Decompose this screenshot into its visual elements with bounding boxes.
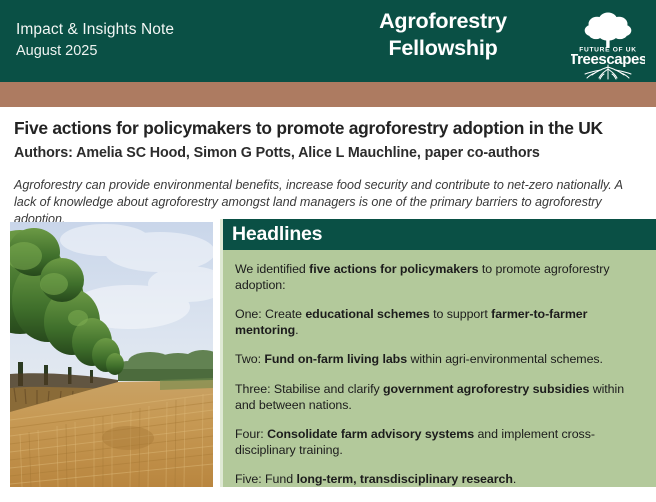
header-title-line2: Fellowship <box>318 35 568 62</box>
headline-text: . <box>513 472 516 486</box>
headline-action-three: Three: Stabilise and clarify government … <box>235 382 642 413</box>
accent-bar <box>0 82 656 107</box>
page-header: Impact & Insights Note August 2025 Agrof… <box>0 0 656 82</box>
headline-text: . <box>295 323 298 337</box>
header-date: August 2025 <box>16 42 174 61</box>
headline-emphasis: long-term, transdisciplinary research <box>296 472 512 486</box>
headline-text: One: Create <box>235 307 305 321</box>
headline-action-one: One: Create educational schemes to suppo… <box>235 307 642 338</box>
headline-text: Three: Stabilise and clarify <box>235 382 383 396</box>
headlines-panel-header: Headlines <box>223 219 656 250</box>
header-title: Agroforestry Fellowship <box>318 8 568 62</box>
headline-emphasis: five actions for policymakers <box>309 262 478 276</box>
headline-emphasis: Fund on-farm living labs <box>264 352 407 366</box>
headline-text: to support <box>430 307 491 321</box>
headlines-body: We identified five actions for policymak… <box>223 250 656 502</box>
treescapes-logo: FUTURE OF UK Treescapes <box>571 4 645 80</box>
page-title: Five actions for policymakers to promote… <box>14 117 642 139</box>
headline-intro: We identified five actions for policymak… <box>235 262 642 293</box>
header-title-line1: Agroforestry <box>318 8 568 35</box>
agroforestry-photo <box>10 222 213 487</box>
headline-emphasis: Consolidate farm advisory systems <box>267 427 474 441</box>
headline-action-five: Five: Fund long-term, transdisciplinary … <box>235 472 642 488</box>
headline-text: Five: Fund <box>235 472 296 486</box>
header-kicker: Impact & Insights Note <box>16 20 174 39</box>
authors-line: Authors: Amelia SC Hood, Simon G Potts, … <box>14 144 642 163</box>
headline-text: Two: <box>235 352 264 366</box>
headline-text: within agri-environmental schemes. <box>407 352 603 366</box>
header-left-block: Impact & Insights Note August 2025 <box>16 20 174 61</box>
headlines-heading: Headlines <box>232 223 322 246</box>
headline-text: Four: <box>235 427 267 441</box>
headlines-panel: Headlines We identified five actions for… <box>220 219 656 487</box>
headline-text: We identified <box>235 262 309 276</box>
impact-note-page: Impact & Insights Note August 2025 Agrof… <box>0 0 656 487</box>
headline-action-four: Four: Consolidate farm advisory systems … <box>235 427 642 458</box>
agroforestry-photo-image <box>10 222 213 487</box>
treescapes-tree-logo: FUTURE OF UK Treescapes <box>571 4 645 80</box>
headline-emphasis: educational schemes <box>305 307 429 321</box>
title-block: Five actions for policymakers to promote… <box>0 107 656 228</box>
headline-emphasis: government agroforestry subsidies <box>383 382 589 396</box>
headline-action-two: Two: Fund on-farm living labs within agr… <box>235 352 642 368</box>
